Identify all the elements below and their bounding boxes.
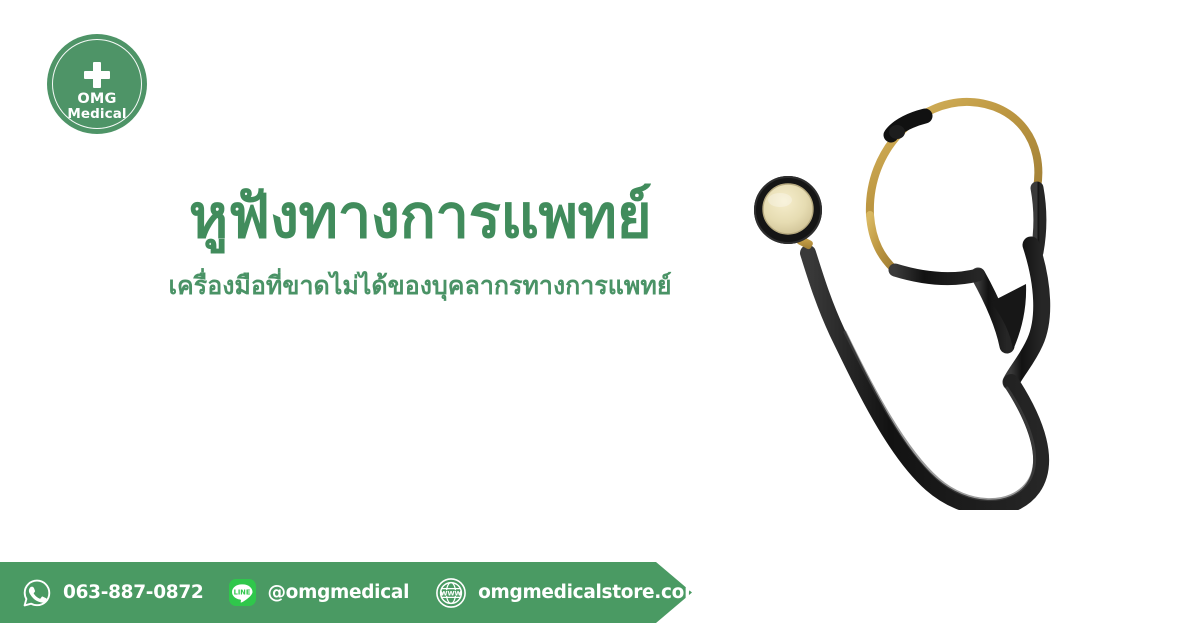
- line-id: @omgmedical: [267, 582, 409, 603]
- whatsapp-icon: [22, 578, 52, 608]
- page-subtitle: เครื่องมือที่ขาดไม่ได้ของบุคลากรทางการแพ…: [60, 271, 780, 301]
- svg-text:LINE: LINE: [234, 588, 251, 596]
- logo-line-1: OMG: [47, 91, 147, 107]
- page-title: หูฟังทางการแพทย์: [60, 186, 780, 249]
- hero-text-block: หูฟังทางการแพทย์ เครื่องมือที่ขาดไม่ได้ข…: [60, 186, 780, 301]
- brand-logo: OMG Medical: [47, 34, 147, 134]
- phone-number: 063-887-0872: [63, 582, 203, 603]
- logo-wordmark: OMG Medical: [47, 91, 147, 122]
- contact-phone[interactable]: 063-887-0872: [22, 578, 203, 608]
- svg-text:WWW: WWW: [441, 589, 462, 597]
- medical-cross-icon: [84, 62, 110, 88]
- globe-www-icon: WWW: [435, 577, 467, 609]
- contact-website[interactable]: WWW omgmedicalstore.com: [435, 577, 703, 609]
- footer-contact-list: 063-887-0872 LINE @omgmedical: [0, 562, 692, 623]
- contact-line[interactable]: LINE @omgmedical: [229, 579, 409, 606]
- line-icon: LINE: [229, 579, 256, 606]
- logo-line-2: Medical: [47, 107, 147, 122]
- banner-canvas: OMG Medical หูฟังทางการแพทย์ เครื่องมือท…: [0, 0, 1200, 628]
- contact-footer-banner: 063-887-0872 LINE @omgmedical: [0, 562, 692, 623]
- website-url: omgmedicalstore.com: [478, 582, 703, 603]
- stethoscope-image: [745, 70, 1125, 510]
